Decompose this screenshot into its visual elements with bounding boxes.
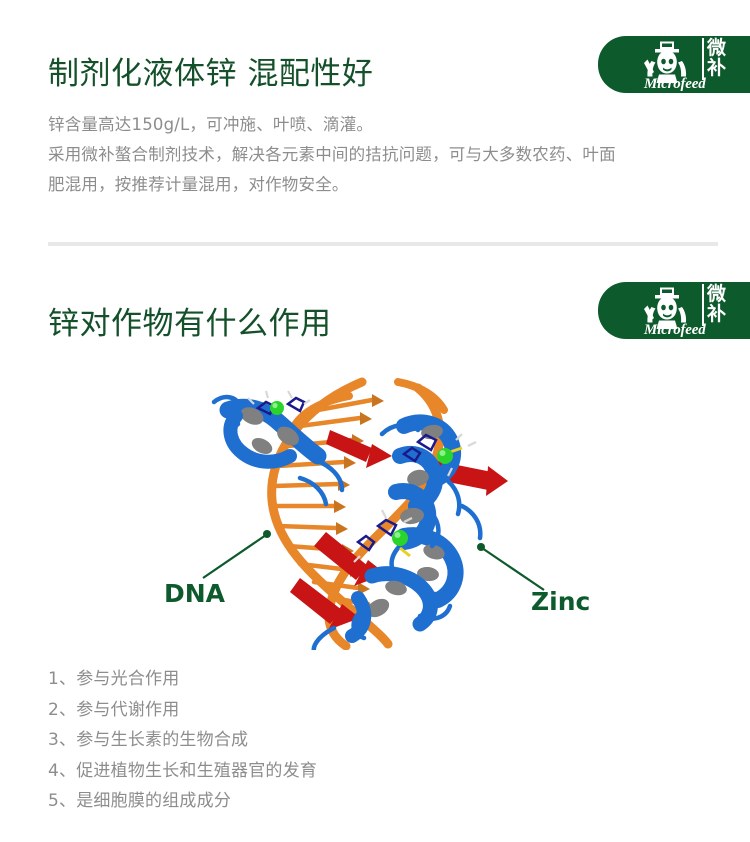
list-item-number: 3、: [48, 730, 76, 750]
zinc-finger-dna-illustration: DNA Zinc: [0, 360, 750, 650]
zinc-ion: [437, 448, 453, 464]
list-item: 3、参与生长素的生物合成: [48, 725, 317, 756]
body-line-2: 采用微补螯合制剂技术，解决各元素中间的拮抗问题，可与大多数农药、叶面: [48, 140, 673, 170]
brand-cjk-char-2: 补: [707, 58, 742, 78]
list-item-number: 4、: [48, 761, 76, 781]
zinc-leader-line: [482, 548, 544, 590]
zinc-leader-dot: [477, 543, 485, 551]
list-item-number: 5、: [48, 791, 76, 811]
brand-cjk-char-1: 微: [707, 38, 742, 58]
brand-wordmark: Microfeed: [644, 322, 706, 339]
brand-wordmark: Microfeed: [644, 76, 706, 93]
brand-cjk-text: 微 补: [702, 38, 742, 80]
dna-leader-dot: [263, 530, 271, 538]
list-item-label: 参与代谢作用: [76, 700, 179, 720]
figure-label-dna: DNA: [164, 579, 226, 608]
list-item-label: 参与光合作用: [76, 669, 179, 689]
section-title-formulation: 制剂化液体锌 混配性好: [48, 48, 373, 93]
list-item: 2、参与代谢作用: [48, 695, 317, 726]
zinc-benefits-list: 1、参与光合作用 2、参与代谢作用 3、参与生长素的生物合成 4、促进植物生长和…: [48, 664, 317, 817]
zinc-finger-dna-figure: DNA Zinc: [0, 360, 750, 650]
brand-badge-inner: 微 补 Microfeed: [636, 36, 750, 93]
brand-cjk-char-1: 微: [707, 284, 742, 304]
list-item-label: 参与生长素的生物合成: [76, 730, 248, 750]
list-item-number: 2、: [48, 700, 76, 720]
brand-cjk-char-2: 补: [707, 304, 742, 324]
list-item: 1、参与光合作用: [48, 664, 317, 695]
brand-badge-top: 微 补 Microfeed: [598, 36, 750, 93]
list-item-number: 1、: [48, 669, 76, 689]
section-title-zinc-function: 锌对作物有什么作用: [48, 298, 332, 343]
zinc-ion: [270, 401, 284, 415]
figure-label-zinc: Zinc: [531, 587, 590, 616]
list-item: 5、是细胞膜的组成成分: [48, 786, 317, 817]
dna-leader-line: [203, 535, 266, 578]
body-line-3: 肥混用，按推荐计量混用，对作物安全。: [48, 170, 673, 200]
body-line-1: 锌含量高达150g/L，可冲施、叶喷、滴灌。: [48, 110, 673, 140]
product-detail-page: 微 补 Microfeed 制剂化液体锌 混配性好 锌含量高达150g/L，可冲…: [0, 0, 750, 842]
list-item: 4、促进植物生长和生殖器官的发育: [48, 756, 317, 787]
section-body-formulation: 锌含量高达150g/L，可冲施、叶喷、滴灌。 采用微补螯合制剂技术，解决各元素中…: [48, 110, 673, 200]
alpha-helix-center-right: [396, 422, 453, 542]
brand-badge-second: 微 补 Microfeed: [598, 282, 750, 339]
list-item-label: 是细胞膜的组成成分: [76, 791, 231, 811]
list-item-label: 促进植物生长和生殖器官的发育: [76, 761, 317, 781]
brand-cjk-text: 微 补: [702, 284, 742, 326]
zinc-ion: [392, 530, 408, 546]
brand-badge-inner-2: 微 补 Microfeed: [636, 282, 750, 339]
section-divider: [48, 242, 718, 246]
